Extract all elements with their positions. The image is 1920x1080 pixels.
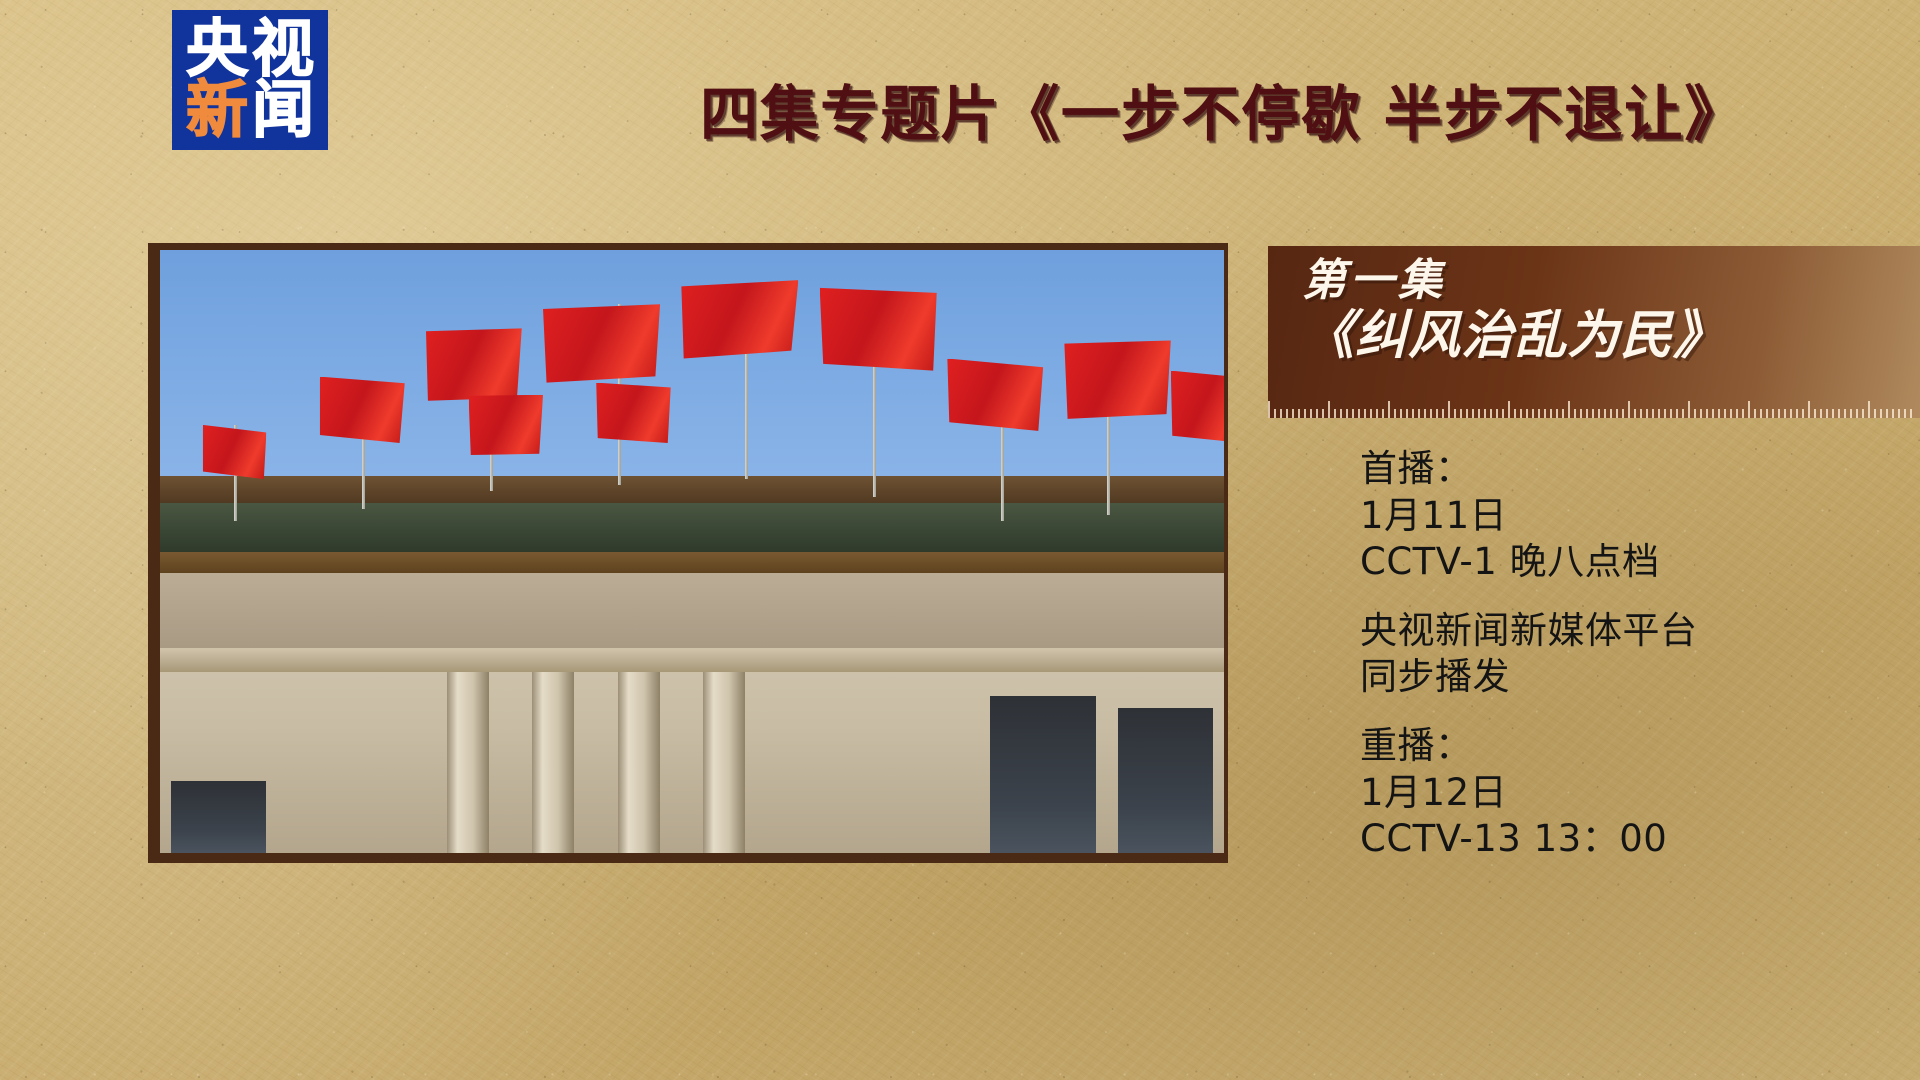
red-flag [947,359,1043,431]
poster-canvas: 央 视 新 闻 四集专题片《一步不停歇 半步不退让》 [0,0,1920,1080]
photo-frame [148,243,1228,863]
red-flag [469,395,543,455]
logo-line-2: 新 闻 [184,80,316,141]
cctv-news-logo[interactable]: 央 视 新 闻 [172,10,328,150]
logo-char-shi: 视 [250,19,316,80]
schedule-block-rebroadcast: 重播： 1月12日 CCTV-13 13：00 [1360,723,1880,863]
window [1118,708,1214,853]
red-flag [426,328,522,400]
window [171,781,267,853]
red-flag [596,383,670,443]
episode-panel: 第一集 《纠风治乱为民》 [1268,246,1920,418]
schedule-line: 央视新闻新媒体平台 [1360,608,1880,655]
red-flag [203,425,267,479]
red-flag [820,286,937,370]
headline-title: 四集专题片《一步不停歇 半步不退让》 [700,85,1854,145]
logo-line-1: 央 视 [184,19,316,80]
episode-title: 《纠风治乱为民》 [1302,308,1920,365]
red-flag [681,280,798,358]
building-green-eave [160,497,1224,551]
red-flag [1171,371,1224,443]
schedule-block-simulcast: 央视新闻新媒体平台 同步播发 [1360,608,1880,701]
window [990,696,1096,853]
building-top-cornice [160,476,1224,503]
logo-char-wen: 闻 [250,80,316,141]
red-flag [1064,340,1170,418]
column [703,672,745,853]
logo-char-xin: 新 [184,80,250,141]
column [618,672,660,853]
photo-great-hall [160,250,1224,853]
broadcast-schedule: 首播： 1月11日 CCTV-1 晚八点档 央视新闻新媒体平台 同步播发 重播：… [1360,446,1880,863]
schedule-line: 1月12日 [1360,770,1880,817]
schedule-block-premiere: 首播： 1月11日 CCTV-1 晚八点档 [1360,446,1880,586]
schedule-line: 1月11日 [1360,493,1880,540]
column [447,672,489,853]
red-flag [320,377,405,443]
schedule-line: CCTV-13 13：00 [1360,816,1880,863]
schedule-label: 重播： [1360,723,1880,770]
episode-number: 第一集 [1302,258,1920,304]
schedule-label: 首播： [1360,446,1880,493]
building-eave-band [160,549,1224,573]
column [532,672,574,853]
schedule-line: CCTV-1 晚八点档 [1360,539,1880,586]
red-flag [543,304,660,382]
schedule-line: 同步播发 [1360,654,1880,701]
logo-char-yang: 央 [184,19,250,80]
